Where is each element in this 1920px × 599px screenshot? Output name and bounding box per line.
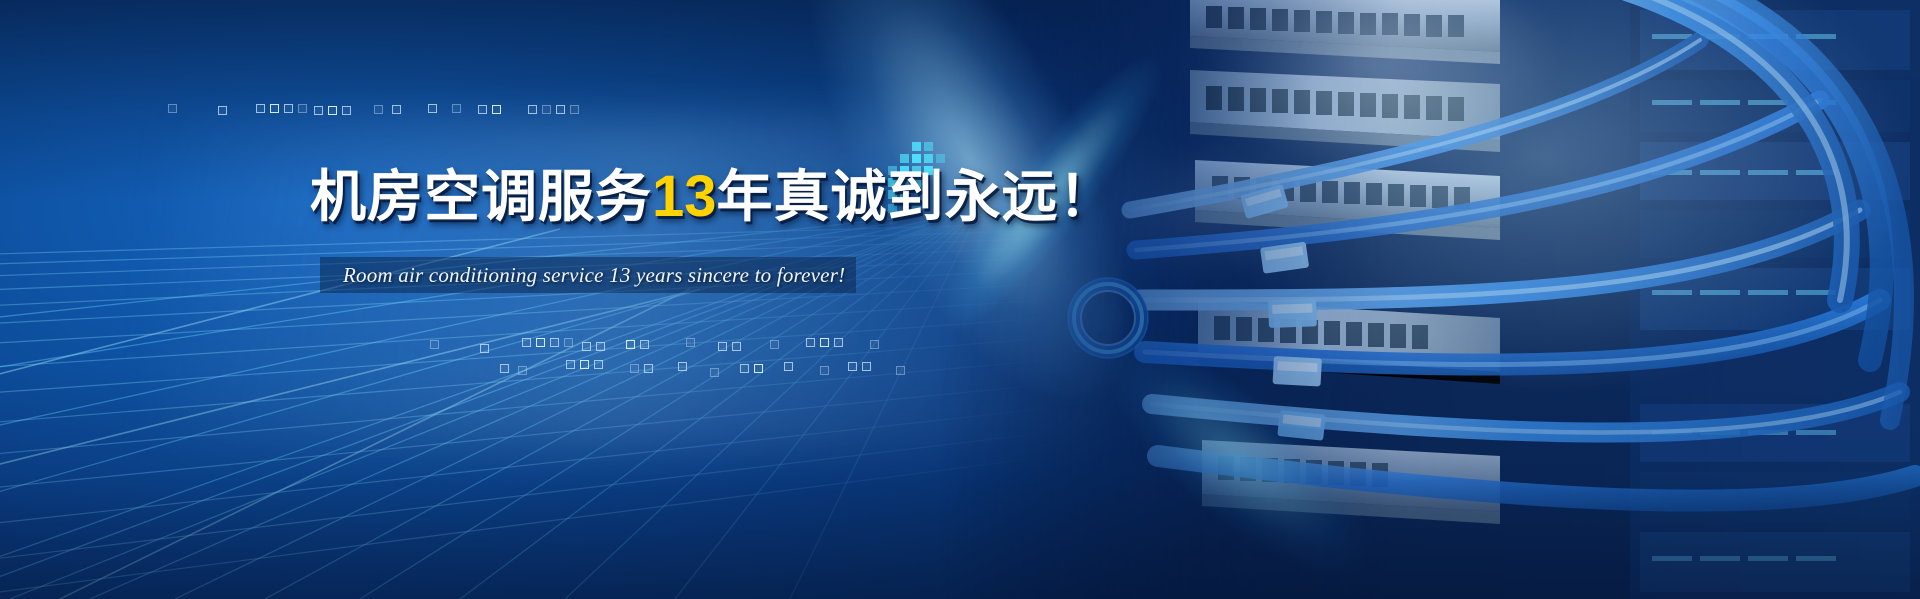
tech-square-row-bottom-2 (500, 360, 920, 374)
tech-square (834, 338, 843, 347)
headline-highlight-years: 13 (652, 164, 717, 229)
tech-square (480, 344, 489, 353)
hero-banner: 机房空调服务13年真诚到永远！ Room air conditioning se… (0, 0, 1920, 599)
tech-square (298, 104, 307, 113)
tech-square (862, 362, 871, 371)
tech-square (522, 338, 531, 347)
tech-square (806, 338, 815, 347)
tech-square (594, 360, 603, 369)
tech-square (500, 364, 509, 373)
tech-square (518, 366, 527, 375)
tech-square (284, 104, 293, 113)
tech-square (770, 340, 779, 349)
tech-square (686, 338, 695, 347)
tech-square (710, 368, 719, 377)
headline-suffix: 年真诚到永远 (717, 165, 1059, 230)
tech-square (528, 105, 537, 114)
tech-square (678, 362, 687, 371)
tech-square (870, 340, 879, 349)
tech-square (848, 362, 857, 371)
banner-subtitle: Room air conditioning service 13 years s… (343, 258, 843, 292)
tech-square (374, 105, 383, 114)
tech-square (754, 364, 763, 373)
tech-square (596, 342, 605, 351)
tech-square (168, 104, 177, 113)
background-bottom-vignette (0, 369, 1920, 599)
tech-square (580, 360, 589, 369)
tech-square (564, 338, 573, 347)
tech-square (314, 106, 323, 115)
tech-square (218, 106, 227, 115)
tech-square (478, 105, 487, 114)
tech-square (428, 104, 437, 113)
tech-square (740, 364, 749, 373)
tech-square (896, 366, 905, 375)
tech-square (784, 362, 793, 371)
tech-square (342, 106, 351, 115)
tech-square (492, 105, 501, 114)
tech-square (626, 340, 635, 349)
tech-square (732, 342, 741, 351)
headline-prefix: 机房空调服务 (310, 165, 652, 230)
tech-square (556, 105, 565, 114)
tech-square (820, 366, 829, 375)
tech-square (644, 364, 653, 373)
tech-square (566, 360, 575, 369)
banner-headline: 机房空调服务13年真诚到永远！ (310, 168, 1116, 226)
tech-square (640, 340, 649, 349)
tech-square-row-top (160, 104, 580, 118)
tech-square (582, 342, 591, 351)
tech-square (570, 105, 579, 114)
headline-exclamation: ！ (1059, 165, 1116, 230)
tech-square (820, 338, 829, 347)
tech-square (630, 364, 639, 373)
tech-square (718, 342, 727, 351)
tech-square (452, 104, 461, 113)
tech-square-row-bottom-1 (430, 338, 900, 352)
tech-square (430, 340, 439, 349)
tech-square (270, 104, 279, 113)
tech-square (256, 104, 265, 113)
tech-square (536, 338, 545, 347)
tech-square (542, 105, 551, 114)
tech-square (392, 105, 401, 114)
tech-square (328, 106, 337, 115)
tech-square (550, 338, 559, 347)
